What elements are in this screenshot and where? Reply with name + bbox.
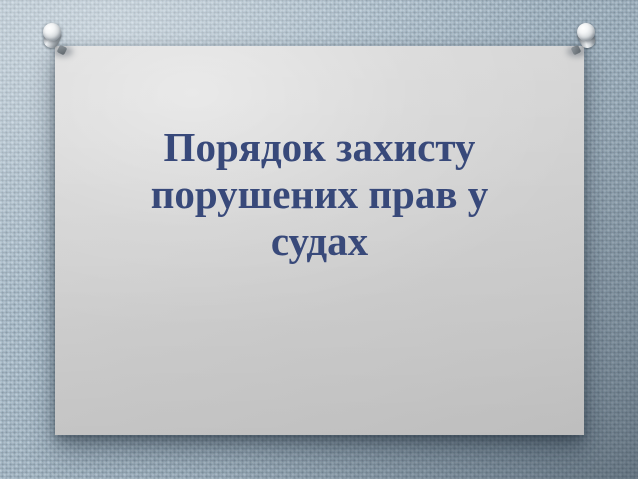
top-left-pushpin-icon — [39, 22, 73, 58]
pushpin-head — [43, 23, 61, 41]
slide-title: Порядок захисту порушених прав у судах — [103, 124, 536, 265]
title-line-1: Порядок захисту — [103, 124, 536, 171]
pushpin-head — [577, 23, 595, 41]
paper-sheet: Порядок захисту порушених прав у судах — [55, 46, 584, 435]
title-line-3: судах — [103, 218, 536, 265]
presentation-slide: Порядок захисту порушених прав у судах — [0, 0, 638, 479]
title-line-2: порушених прав у — [103, 171, 536, 218]
top-right-pushpin-icon — [565, 22, 599, 58]
